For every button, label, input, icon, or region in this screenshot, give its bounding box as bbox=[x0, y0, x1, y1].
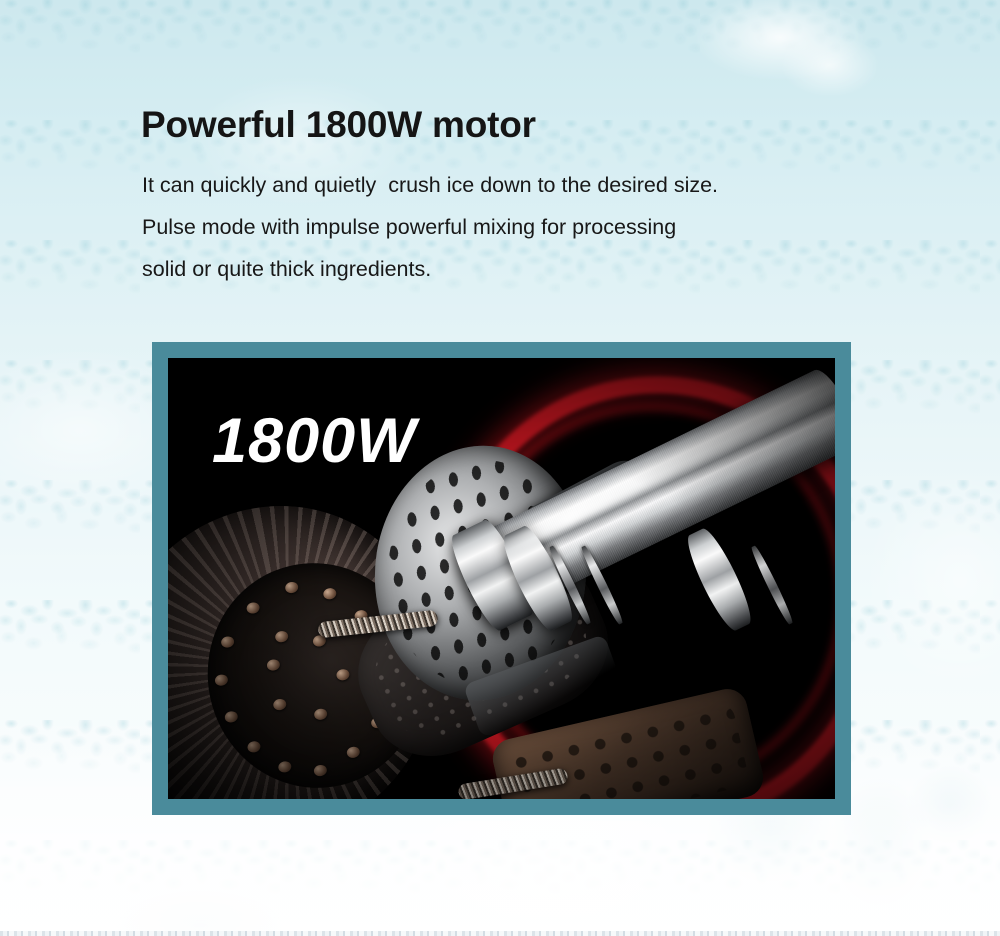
motor-photo-frame: 1800W bbox=[152, 342, 851, 815]
motor-photo: 1800W bbox=[168, 358, 835, 799]
page-title: Powerful 1800W motor bbox=[141, 104, 536, 145]
background-bottom-edge-strip bbox=[0, 931, 1000, 936]
description-paragraph: It can quickly and quietly crush ice dow… bbox=[142, 164, 902, 290]
page-canvas: Powerful 1800W motor It can quickly and … bbox=[0, 0, 1000, 936]
wattage-overlay-label: 1800W bbox=[212, 410, 417, 473]
